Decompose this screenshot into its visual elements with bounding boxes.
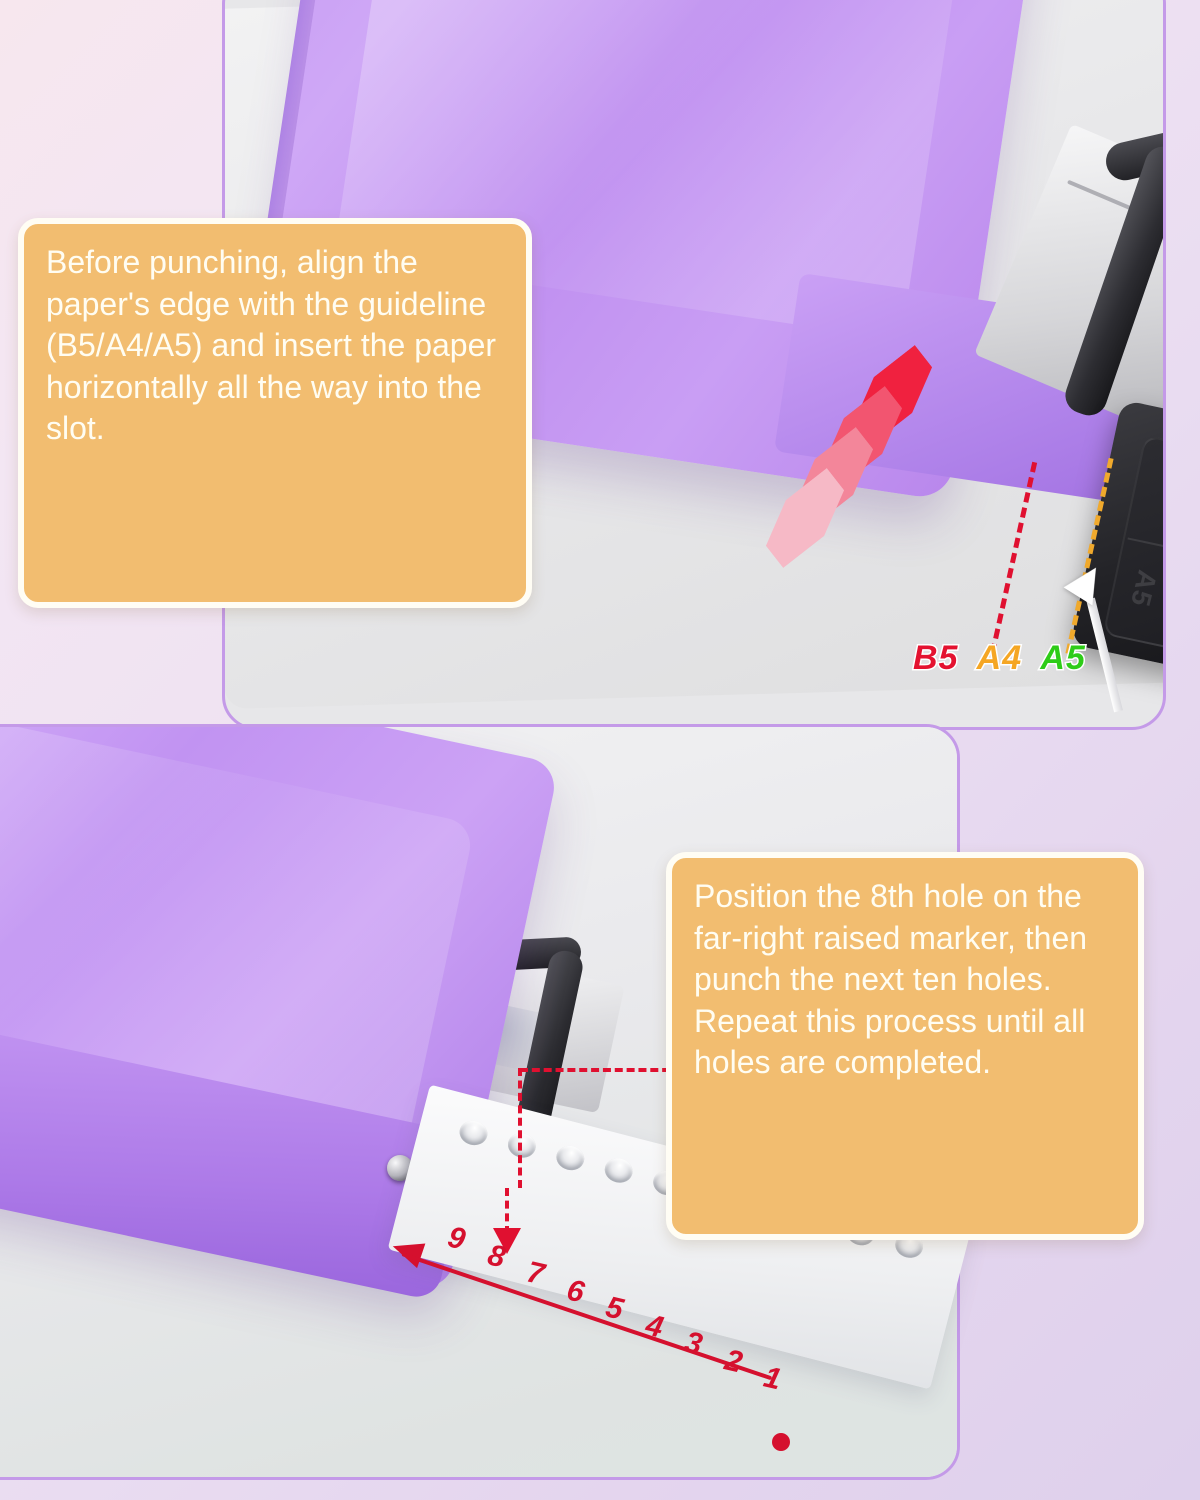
measure-line-endpoint-dot: [772, 1433, 790, 1451]
size-label-b5: B5: [913, 639, 958, 677]
punched-hole: [602, 1155, 635, 1185]
size-label-a5: A5: [1040, 639, 1085, 677]
callout-leader-vertical: [518, 1068, 522, 1188]
paper-size-label-group: B5 A4 A5: [913, 639, 1095, 678]
insert-direction-chevrons: [745, 365, 955, 615]
punched-hole: [457, 1118, 490, 1148]
punched-hole: [554, 1143, 587, 1173]
callout-top-instruction: Before punching, align the paper's edge …: [18, 218, 532, 608]
size-label-a4: A4: [977, 639, 1022, 677]
callout-leader-horizontal: [520, 1068, 682, 1072]
callout-bottom-instruction: Position the 8th hole on the far-right r…: [666, 852, 1144, 1240]
